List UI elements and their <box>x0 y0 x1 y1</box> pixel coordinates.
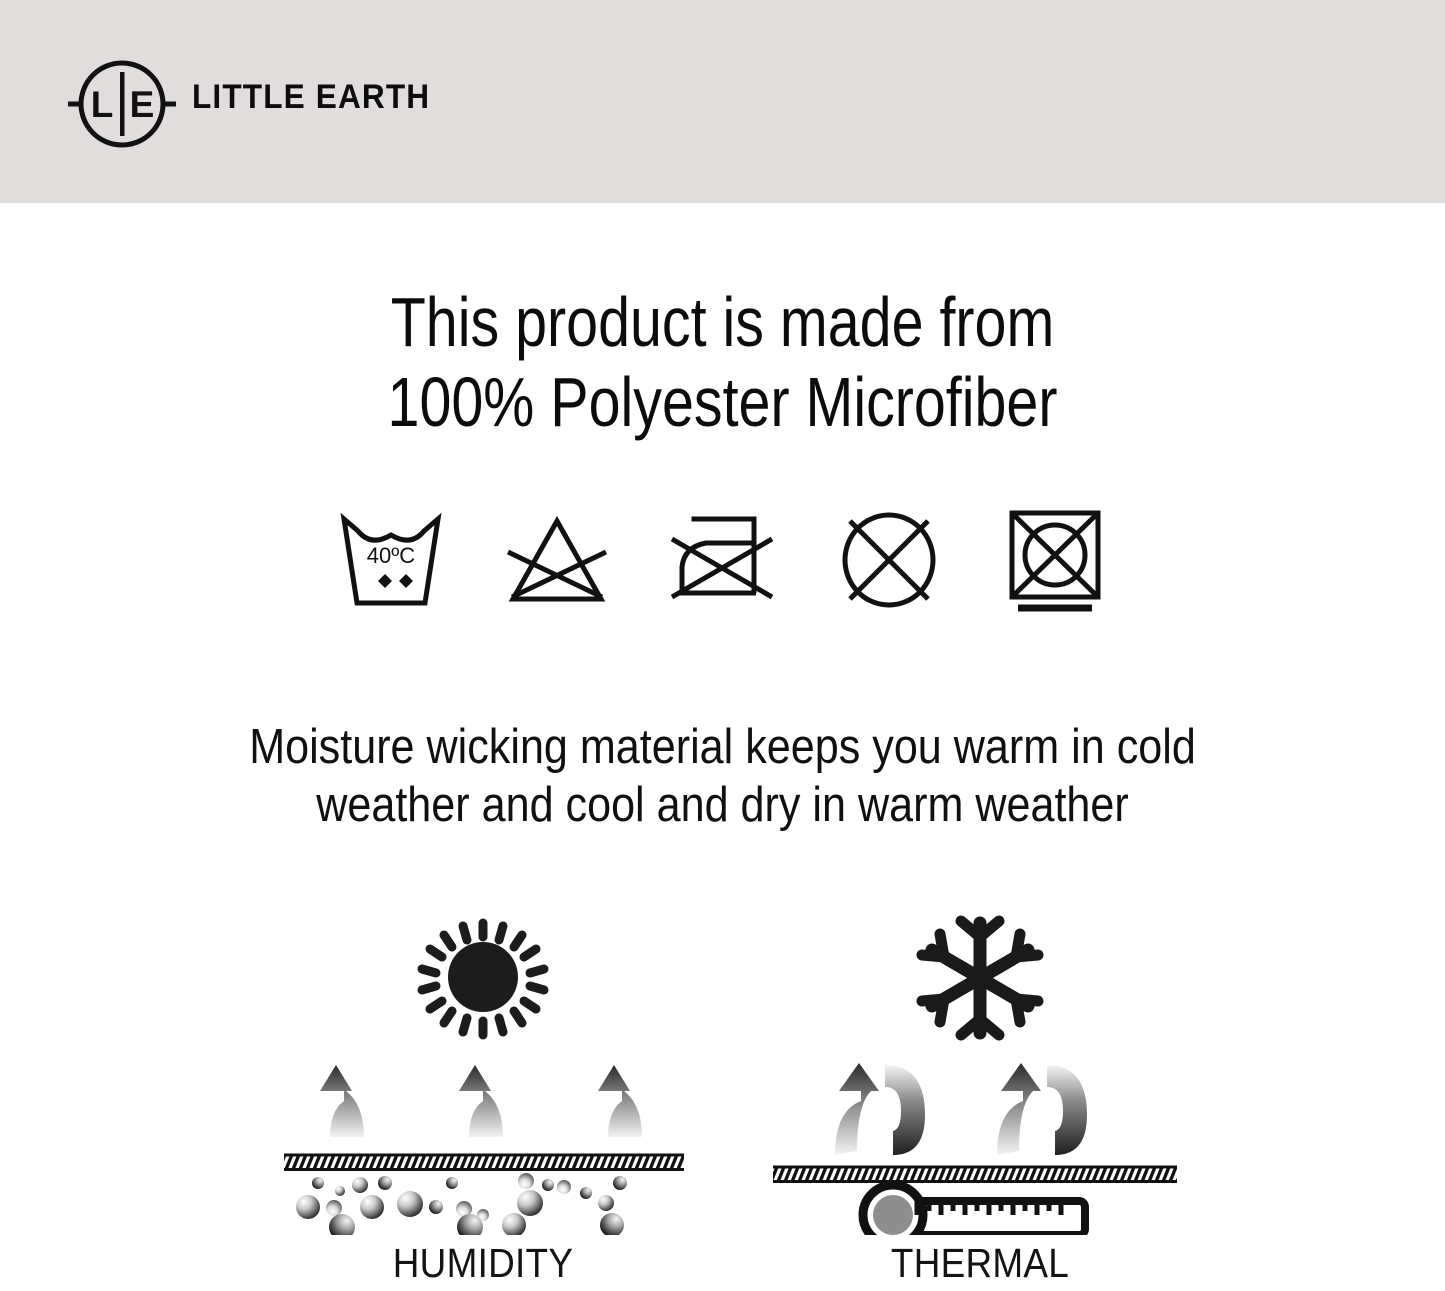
wash-40c-gentle-icon: 40ºC <box>336 505 446 615</box>
headline-line-1: This product is made from <box>130 282 1315 362</box>
svg-text:E: E <box>130 84 155 125</box>
wicking-arrows <box>320 1065 642 1137</box>
subhead-line-1: Moisture wicking material keeps you warm… <box>87 718 1359 776</box>
do-not-iron-icon <box>668 505 778 615</box>
hatched-fabric-layer <box>284 1154 684 1172</box>
svg-text:L: L <box>91 84 114 125</box>
feature-label-humidity: HUMIDITY <box>290 1240 677 1287</box>
brand-logo[interactable]: L E LITTLE EARTH <box>58 58 438 150</box>
sun-icon <box>422 923 544 1035</box>
wash-temperature-text: 40ºC <box>366 543 415 568</box>
care-symbols-row: 40ºC <box>0 505 1445 625</box>
page-title: This product is made from 100% Polyester… <box>130 282 1315 442</box>
headline-line-2: 100% Polyester Microfiber <box>130 362 1315 442</box>
product-description: Moisture wicking material keeps you warm… <box>87 718 1359 834</box>
do-not-dry-clean-icon <box>834 505 944 615</box>
thermometer-icon <box>863 1185 1085 1235</box>
feature-label-thermal: THERMAL <box>787 1240 1174 1287</box>
brand-name: LITTLE EARTH <box>192 78 430 117</box>
feature-thermal: THERMAL <box>765 915 1195 1291</box>
snowflake-icon <box>922 921 1038 1035</box>
little-earth-circle-logo: L E <box>58 58 186 150</box>
do-not-bleach-icon <box>502 505 612 615</box>
thermal-illustration <box>765 915 1195 1235</box>
do-not-tumble-dry-icon <box>1000 505 1110 615</box>
feature-humidity: HUMIDITY <box>268 915 698 1291</box>
circulating-arrows <box>835 1063 1087 1155</box>
hatched-fabric-layer <box>773 1166 1177 1184</box>
humidity-illustration <box>268 915 698 1235</box>
feature-panels: HUMIDITY <box>0 915 1445 1291</box>
subhead-line-2: weather and cool and dry in warm weather <box>87 776 1359 834</box>
moisture-droplets <box>296 1173 627 1235</box>
